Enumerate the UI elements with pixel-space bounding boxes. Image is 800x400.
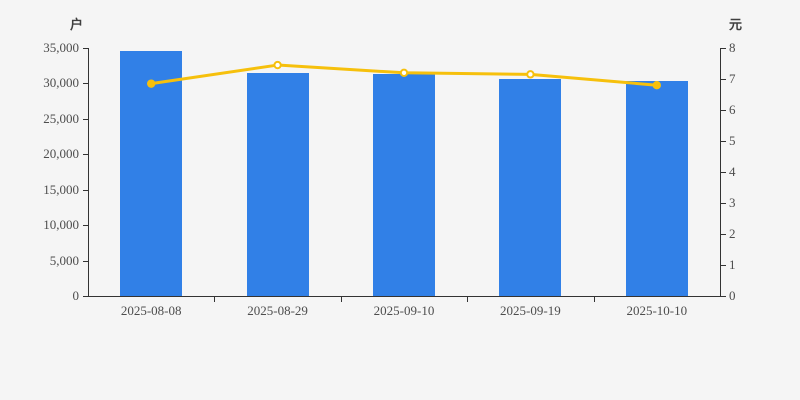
x-tick-mark [214, 297, 215, 302]
left-tick-mark [83, 154, 88, 155]
bar[interactable] [120, 51, 182, 296]
x-tick-label: 2025-10-10 [626, 304, 687, 317]
right-tick-mark [721, 234, 726, 235]
left-tick-label: 10,000 [43, 218, 79, 231]
left-tick-mark [83, 190, 88, 191]
right-tick-label: 3 [729, 196, 736, 209]
x-tick-mark [594, 297, 595, 302]
right-tick-label: 7 [729, 72, 736, 85]
left-tick-label: 15,000 [43, 183, 79, 196]
right-tick-label: 2 [729, 227, 736, 240]
line-point-marker[interactable] [527, 71, 533, 77]
left-tick-mark [83, 225, 88, 226]
right-tick-label: 4 [729, 165, 736, 178]
x-tick-mark [467, 297, 468, 302]
left-tick-label: 20,000 [43, 147, 79, 160]
left-tick-mark [83, 261, 88, 262]
right-tick-label: 6 [729, 103, 736, 116]
right-tick-label: 8 [729, 41, 736, 54]
right-tick-mark [721, 265, 726, 266]
left-tick-mark [83, 83, 88, 84]
right-tick-label: 0 [729, 289, 736, 302]
left-tick-mark [83, 48, 88, 49]
left-tick-mark [83, 296, 88, 297]
right-tick-mark [721, 110, 726, 111]
left-tick-label: 30,000 [43, 76, 79, 89]
right-tick-label: 5 [729, 134, 736, 147]
left-tick-label: 5,000 [50, 254, 79, 267]
line-point-marker[interactable] [274, 62, 280, 68]
left-tick-label: 0 [73, 289, 80, 302]
x-tick-label: 2025-08-29 [247, 304, 308, 317]
right-axis-unit-label: 元 [729, 14, 742, 33]
left-axis-unit-label: 户 [70, 14, 83, 33]
bar[interactable] [373, 74, 435, 296]
bar[interactable] [626, 81, 688, 296]
left-tick-label: 35,000 [43, 41, 79, 54]
right-tick-label: 1 [729, 258, 736, 271]
x-tick-label: 2025-09-19 [500, 304, 561, 317]
chart-container: 户 元 05,00010,00015,00020,00025,00030,000… [0, 0, 800, 400]
x-tick-mark [341, 297, 342, 302]
right-tick-mark [721, 141, 726, 142]
x-axis-line [88, 296, 721, 297]
right-tick-mark [721, 203, 726, 204]
left-axis-line [88, 48, 89, 297]
right-tick-mark [721, 172, 726, 173]
left-tick-label: 25,000 [43, 112, 79, 125]
x-tick-label: 2025-09-10 [374, 304, 435, 317]
bar[interactable] [499, 79, 561, 296]
x-tick-label: 2025-08-08 [121, 304, 182, 317]
bar[interactable] [247, 73, 309, 296]
right-tick-mark [721, 79, 726, 80]
left-tick-mark [83, 119, 88, 120]
right-tick-mark [721, 296, 726, 297]
right-tick-mark [721, 48, 726, 49]
